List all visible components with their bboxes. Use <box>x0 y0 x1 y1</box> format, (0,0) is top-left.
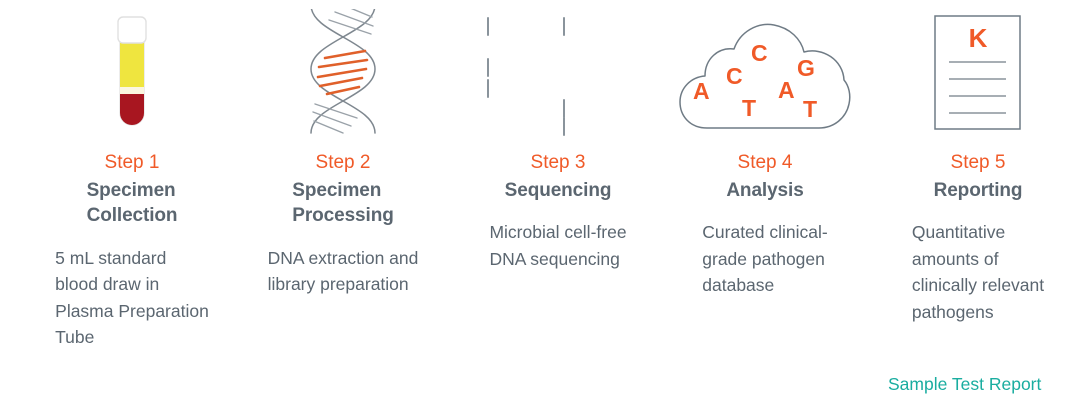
sequence-bar <box>563 99 565 118</box>
step-3-label: Step 3 <box>531 150 586 176</box>
step-1-description: 5 mL standard blood draw in Plasma Prepa… <box>55 245 209 351</box>
workflow-step-2: Step 2 Specimen Processing DNA extractio… <box>238 0 448 298</box>
step-5-icon-slot: K <box>878 0 1078 150</box>
step-2-title-line-2: Processing <box>292 203 393 228</box>
step-2-title-line-1: Specimen <box>292 178 393 203</box>
report-document-icon: K <box>932 14 1024 136</box>
step-5-description: Quantitative amounts of clinically relev… <box>912 219 1044 325</box>
step-5-label: Step 5 <box>951 150 1006 176</box>
step-4-icon-slot: A C C T A G T <box>662 0 868 150</box>
sequence-bar <box>487 58 489 77</box>
step-1-desc-line-4: Tube <box>55 324 209 351</box>
step-2-icon-slot <box>238 0 448 150</box>
cloud-letter-c-1: C <box>726 63 743 90</box>
cloud-letter-g-1: G <box>797 55 815 82</box>
step-4-desc-line-2: grade pathogen <box>702 246 827 273</box>
step-4-description: Curated clinical- grade pathogen databas… <box>702 219 827 299</box>
sequence-bar <box>487 79 489 98</box>
step-1-title: Specimen Collection <box>87 178 178 229</box>
step-5-desc-line-2: amounts of <box>912 246 1044 273</box>
sample-test-report-link[interactable]: Sample Test Report <box>888 374 1041 395</box>
step-3-description: Microbial cell-free DNA sequencing <box>489 219 626 272</box>
sequence-bar <box>487 17 489 36</box>
dna-helix-icon <box>289 9 397 141</box>
step-2-title: Specimen Processing <box>292 178 393 229</box>
report-logo-k-icon: K <box>932 23 1024 54</box>
step-5-desc-line-1: Quantitative <box>912 219 1044 246</box>
step-3-desc-line-1: Microbial cell-free <box>489 219 626 246</box>
cloud-database-icon: A C C T A G T <box>677 16 853 134</box>
step-5-desc-line-4: pathogens <box>912 299 1044 326</box>
step-1-icon-slot <box>22 0 242 150</box>
cloud-letter-t-1: T <box>742 95 756 122</box>
cloud-letter-a-2: A <box>778 77 795 104</box>
blood-collection-tube-svg <box>107 9 157 141</box>
step-3-icon-slot <box>455 0 661 150</box>
step-3-title: Sequencing <box>505 178 612 203</box>
cloud-letter-c-2: C <box>751 40 768 67</box>
step-2-desc-line-1: DNA extraction and <box>268 245 419 272</box>
step-5-desc-line-3: clinically relevant <box>912 272 1044 299</box>
step-4-desc-line-3: database <box>702 272 827 299</box>
blood-collection-tube-icon <box>107 9 157 141</box>
cloud-letter-t-2: T <box>803 96 817 123</box>
sequence-bar <box>563 17 565 36</box>
step-1-label: Step 1 <box>105 150 160 176</box>
step-2-description: DNA extraction and library preparation <box>268 245 419 298</box>
step-1-title-line-2: Collection <box>87 203 178 228</box>
step-1-title-line-1: Specimen <box>87 178 178 203</box>
step-1-desc-line-3: Plasma Preparation <box>55 298 209 325</box>
cloud-outline-shape <box>677 16 853 134</box>
step-1-desc-line-1: 5 mL standard <box>55 245 209 272</box>
step-4-title: Analysis <box>726 178 803 203</box>
step-2-label: Step 2 <box>316 150 371 176</box>
sequencing-reads-icon <box>487 14 629 136</box>
step-4-title-line-1: Analysis <box>726 178 803 203</box>
step-5-title-line-1: Reporting <box>934 178 1023 203</box>
workflow-step-4: A C C T A G T Step 4 Analysis Curated cl… <box>662 0 868 299</box>
sequence-bar <box>563 117 565 136</box>
workflow-diagram: Step 1 Specimen Collection 5 mL standard… <box>0 0 1080 402</box>
step-1-desc-line-2: blood draw in <box>55 271 209 298</box>
step-3-desc-line-2: DNA sequencing <box>489 246 626 273</box>
workflow-step-1: Step 1 Specimen Collection 5 mL standard… <box>22 0 242 351</box>
workflow-step-3: Step 3 Sequencing Microbial cell-free DN… <box>455 0 661 272</box>
step-3-title-line-1: Sequencing <box>505 178 612 203</box>
cloud-letter-a-1: A <box>693 78 710 105</box>
step-4-desc-line-1: Curated clinical- <box>702 219 827 246</box>
workflow-step-5: K Step 5 Reporting Quantitative amounts … <box>878 0 1078 325</box>
step-4-label: Step 4 <box>738 150 793 176</box>
step-5-title: Reporting <box>934 178 1023 203</box>
step-2-desc-line-2: library preparation <box>268 271 419 298</box>
